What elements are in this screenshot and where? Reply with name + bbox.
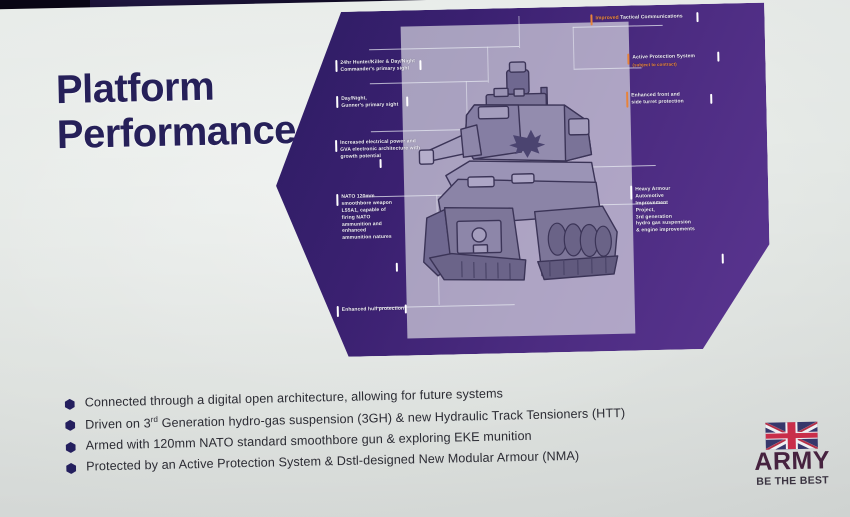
bullet-text: Protected by an Active Protection System… xyxy=(86,449,579,474)
callout-tick xyxy=(696,12,698,22)
tank-diagram-hexagon: 24hr Hunter/Killer & Day/Night Commander… xyxy=(272,3,771,359)
bullet-post: Generation hydro-gas suspension (3GH) & … xyxy=(158,406,626,430)
hexagon-bullet-icon xyxy=(66,463,76,474)
hexagon-bullet-icon xyxy=(65,420,75,431)
callout-gunners-sight: Day/Night, Gunner's primary sight xyxy=(341,94,421,110)
bullet-pre: Driven on 3 xyxy=(85,416,151,431)
callout-text: Tactical Communications xyxy=(620,13,683,20)
callout-tick xyxy=(336,194,338,206)
callout-tick-orange xyxy=(626,92,628,108)
callout-tick xyxy=(405,305,407,314)
callout-tick xyxy=(335,60,337,72)
callout-tick-orange xyxy=(590,14,592,25)
callout-tick xyxy=(710,94,712,104)
callout-tick xyxy=(722,254,724,264)
hexagon-bullet-icon xyxy=(66,442,76,453)
logo-wordmark: ARMY xyxy=(744,449,840,475)
callout-turret-protection: Enhanced front and side turret protectio… xyxy=(631,91,709,106)
callout-tactical-communications: Improved Tactical Communications xyxy=(595,13,691,22)
callout-active-protection-system: Active Protection System(subject to cont… xyxy=(632,53,722,69)
callout-electrical-architecture: Increased electrical power and GVA elect… xyxy=(340,138,432,161)
bullet-pre: Armed with 120mm NATO standard smoothbor… xyxy=(86,429,532,453)
callout-tick xyxy=(337,306,339,317)
callout-tick xyxy=(406,96,408,106)
logo-tagline: BE THE BEST xyxy=(744,474,840,488)
bullet-list: Connected through a digital open archite… xyxy=(65,381,747,481)
union-jack-icon xyxy=(765,422,818,450)
callout-tick xyxy=(379,159,381,168)
callout-tick xyxy=(717,52,719,62)
projected-slide-photo: Platform Performance xyxy=(0,0,850,517)
bullet-pre: Protected by an Active Protection System… xyxy=(86,449,579,474)
callout-main-gun: NATO 120mm smoothbore weapon L55A1, capa… xyxy=(341,192,418,242)
british-army-logo: ARMY BE THE BEST xyxy=(743,421,840,488)
callout-tick xyxy=(419,60,421,70)
title-line-1: Platform xyxy=(55,65,214,112)
challenger-3-tank-illustration xyxy=(413,46,634,306)
callout-tick xyxy=(630,186,632,200)
callout-tick xyxy=(396,263,398,272)
callout-text: Active Protection System xyxy=(632,53,695,60)
callout-prefix-improved: Improved xyxy=(595,15,618,22)
hexagon-bullet-icon xyxy=(65,399,75,410)
slide-surface: Platform Performance xyxy=(0,0,850,517)
callout-commanders-sight: 24hr Hunter/Killer & Day/Night Commander… xyxy=(340,58,430,74)
callout-subtext-subject-to-contract: (subject to contract) xyxy=(632,60,722,68)
bullet-text: Armed with 120mm NATO standard smoothbor… xyxy=(86,429,532,453)
callout-haip-suspension: Heavy Armour Automotive Improvement Proj… xyxy=(635,185,724,235)
callout-tick-orange xyxy=(627,54,629,65)
callout-tick xyxy=(335,140,337,152)
callout-tick xyxy=(336,96,338,108)
